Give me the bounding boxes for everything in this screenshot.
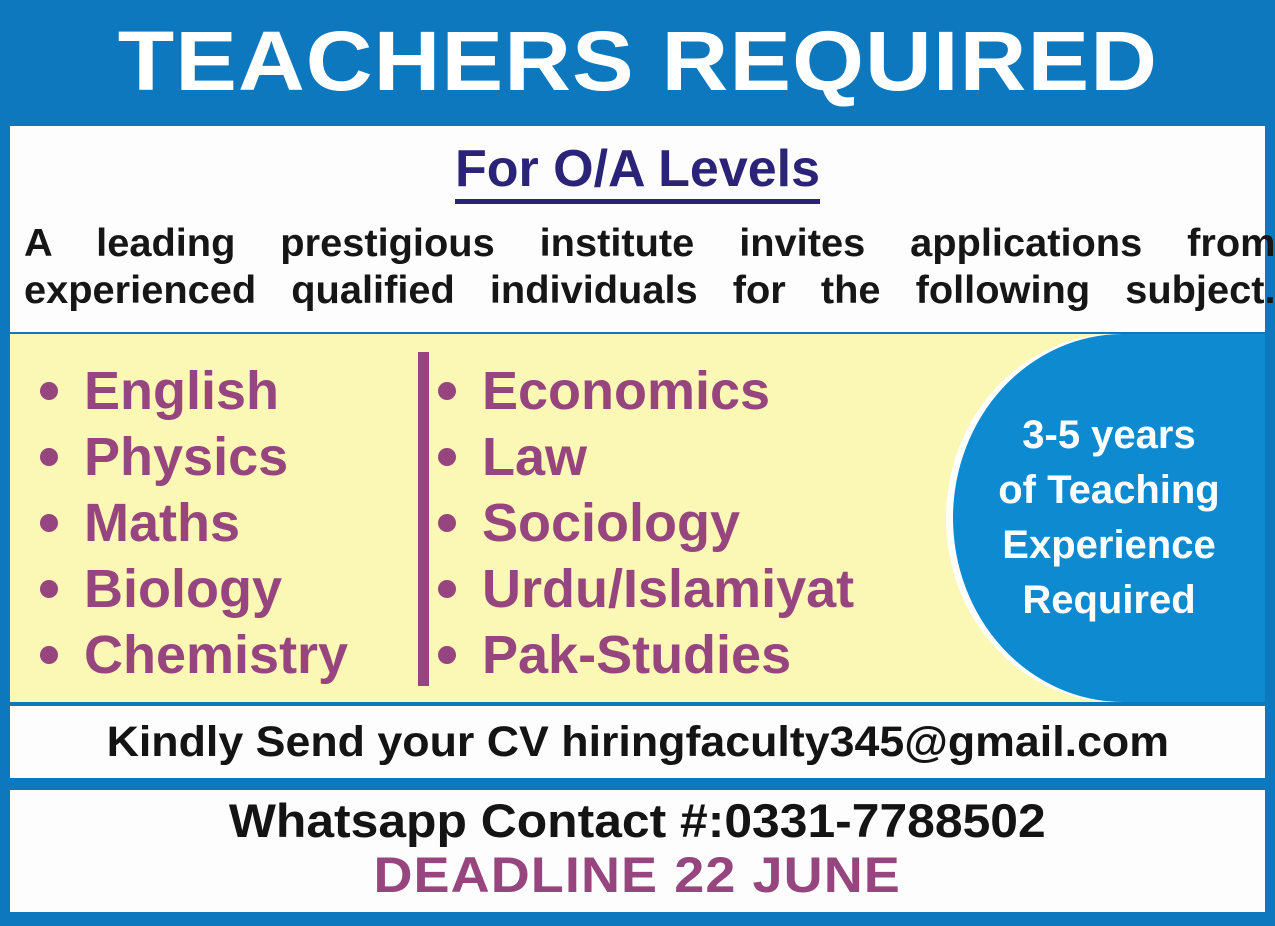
experience-line: 3-5 years [1022,408,1195,463]
bullet-icon [438,382,456,400]
bullet-icon [40,580,58,598]
email-instruction: Kindly Send your CV hiringfaculty345@gma… [106,721,1168,764]
email-strip: Kindly Send your CV hiringfaculty345@gma… [10,706,1265,778]
bullet-icon [40,448,58,466]
bullet-icon [40,514,58,532]
deadline-notice: DEADLINE 22 JUNE [374,849,901,902]
page-title: TEACHERS REQUIRED [117,19,1157,103]
subject-item: Urdu/Islamiyat [438,556,930,622]
contact-strip: Whatsapp Contact #:0331-7788502 DEADLINE… [10,790,1265,912]
levels-heading-wrap: For O/A Levels [10,126,1265,204]
intro-panel: For O/A Levels A leading prestigious ins… [10,126,1265,332]
levels-heading: For O/A Levels [455,142,820,204]
subject-column-left: English Physics Maths Biology Chemistry [10,334,410,702]
bullet-icon [438,514,456,532]
bullet-icon [438,646,456,664]
bullet-icon [40,646,58,664]
subject-label: Urdu/Islamiyat [482,562,854,616]
bullet-icon [40,382,58,400]
subject-label: Economics [482,364,770,418]
subject-item: Sociology [438,490,930,556]
subject-columns: English Physics Maths Biology Chemistry [10,334,930,702]
job-advertisement: TEACHERS REQUIRED For O/A Levels A leadi… [0,0,1275,926]
column-divider [418,352,429,686]
experience-line: Experience [1002,518,1215,573]
experience-line: Required [1022,573,1195,628]
intro-body-text: A leading prestigious institute invites … [24,220,1275,315]
subject-column-right: Economics Law Sociology Urdu/Islamiyat P… [410,334,930,702]
subject-item: Law [438,424,930,490]
experience-line: of Teaching [998,463,1219,518]
subject-item: Pak-Studies [438,622,930,688]
subject-label: Biology [84,562,282,616]
subject-label: English [84,364,279,418]
subject-label: Law [482,430,587,484]
subject-label: Physics [84,430,288,484]
subject-label: Sociology [482,496,740,550]
subject-label: Chemistry [84,628,348,682]
subject-label: Pak-Studies [482,628,791,682]
subject-item: Economics [438,358,930,424]
subject-item: English [40,358,410,424]
header-banner: TEACHERS REQUIRED [0,0,1275,122]
bullet-icon [438,448,456,466]
bullet-icon [438,580,456,598]
subject-item: Physics [40,424,410,490]
subject-label: Maths [84,496,240,550]
whatsapp-contact: Whatsapp Contact #:0331-7788502 [229,796,1046,847]
subject-item: Maths [40,490,410,556]
subject-item: Chemistry [40,622,410,688]
subject-item: Biology [40,556,410,622]
